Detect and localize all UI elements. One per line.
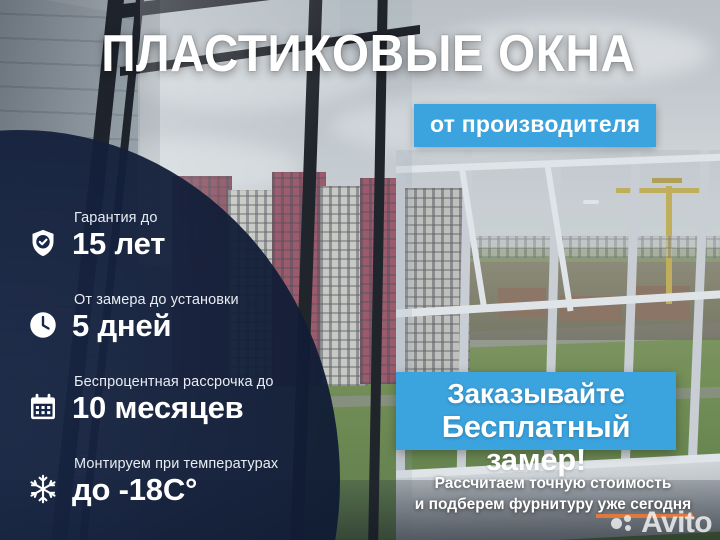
- offer-subtext-line-1: Рассчитаем точную стоимость: [400, 474, 706, 495]
- feature-item-installment: Беспроцентная рассрочка до 10 месяцев: [26, 372, 316, 454]
- crane-counterweight: [652, 178, 682, 183]
- offer-subtext-prefix: и подберем фурнитуру: [415, 496, 598, 513]
- feature-list: Гарантия до 15 лет От замера до установк…: [26, 208, 316, 536]
- shield-check-icon: [28, 228, 58, 258]
- manufacturer-badge: от производителя: [414, 104, 656, 147]
- advertisement-poster: ПЛАСТИКОВЫЕ ОКНА от производителя Гарант…: [0, 0, 720, 540]
- feature-value: 10 месяцев: [72, 390, 244, 426]
- snowflake-icon: [28, 474, 58, 504]
- avito-wordmark: Avito: [641, 508, 712, 538]
- feature-item-temperature: Монтируем при температурах до -18С°: [26, 454, 316, 536]
- feature-label: От замера до установки: [74, 292, 239, 308]
- cta-line-2: Бесплатный замер!: [396, 411, 676, 476]
- page-title: ПЛАСТИКОВЫЕ ОКНА: [29, 28, 691, 80]
- distant-skyline: [470, 236, 720, 258]
- feature-item-installation-time: От замера до установки 5 дней: [26, 290, 316, 372]
- feature-item-warranty: Гарантия до 15 лет: [26, 208, 316, 290]
- feature-label: Гарантия до: [74, 210, 157, 226]
- calendar-icon: [28, 392, 58, 422]
- cta-banner[interactable]: Заказывайте Бесплатный замер!: [396, 372, 676, 450]
- building-windows: [470, 236, 720, 258]
- sash-handle: [583, 200, 599, 204]
- feature-value: 15 лет: [72, 226, 165, 262]
- construction-block: [636, 286, 690, 320]
- avito-logo-icon: [611, 512, 637, 534]
- cta-line-1: Заказывайте: [396, 379, 676, 408]
- feature-value: до -18С°: [72, 472, 197, 508]
- feature-label: Монтируем при температурах: [74, 456, 278, 472]
- feature-value: 5 дней: [72, 308, 171, 344]
- avito-watermark: Avito: [611, 508, 712, 538]
- clock-icon: [28, 310, 58, 340]
- feature-label: Беспроцентная рассрочка до: [74, 374, 274, 390]
